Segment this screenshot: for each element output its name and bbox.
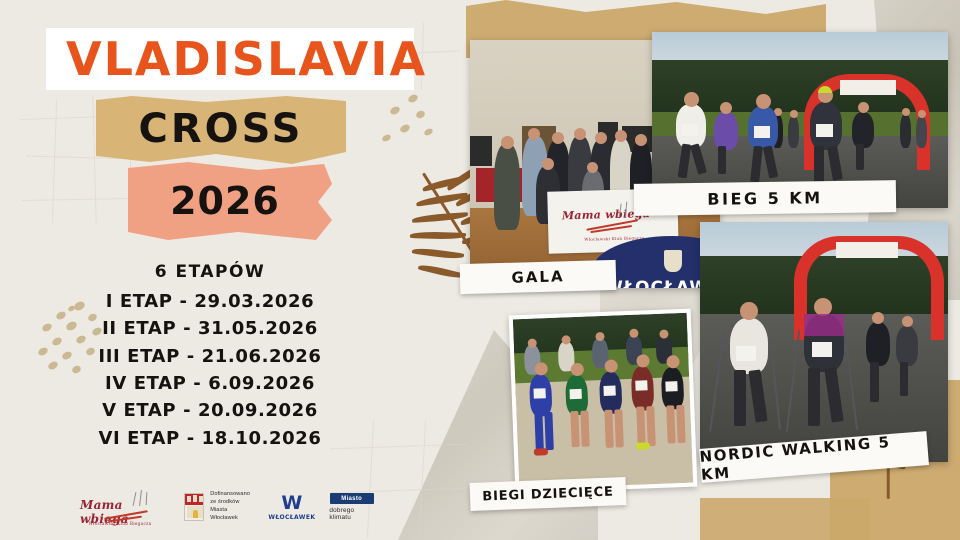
funding-line-3: Miasta Włocławek bbox=[210, 507, 252, 523]
city-w-icon: W bbox=[281, 494, 302, 513]
funding-line-1: Dofinansowano bbox=[210, 491, 252, 499]
stage-item-2: II ETAP - 31.05.2026 bbox=[0, 315, 420, 342]
sponsor-row: Mama wbiega Włocławski Klub Biegacza Dof… bbox=[74, 487, 374, 527]
photo-kids-race-image bbox=[513, 313, 693, 490]
sponsor-city-funding: Dofinansowano ze środków Miasta Włocławe… bbox=[184, 491, 252, 523]
city-mark-name: WŁOCŁAWEK bbox=[268, 514, 315, 521]
sponsor-city-mark: W WŁOCŁAWEK bbox=[268, 494, 315, 521]
stage-item-1: I ETAP - 29.03.2026 bbox=[0, 288, 420, 315]
club-logo-sub: Włocławski Klub Biegacza bbox=[76, 521, 164, 526]
caption-kids-race: BIEGI DZIECIĘCE bbox=[470, 477, 627, 511]
title-band-year: 2026 bbox=[128, 162, 336, 240]
photo-nordic-walking[interactable] bbox=[700, 222, 948, 462]
climate-badge: Miasto bbox=[330, 493, 374, 504]
caption-kids-race-text: BIEGI DZIECIĘCE bbox=[482, 484, 614, 504]
arch-logo bbox=[840, 80, 896, 95]
funding-line-2: ze środków bbox=[210, 499, 252, 507]
stage-item-6: VI ETAP - 18.10.2026 bbox=[0, 425, 420, 452]
arch-logo-nordic bbox=[836, 242, 898, 258]
caption-run-5km-text: BIEG 5 KM bbox=[707, 188, 823, 209]
poster-title: VLADISLAVIA bbox=[66, 36, 427, 82]
stage-item-3: III ETAP - 21.06.2026 bbox=[0, 343, 420, 370]
caption-gala-text: GALA bbox=[511, 267, 565, 286]
photo-nordic-walking-image bbox=[700, 222, 948, 462]
kraft-paper-bottom-strip bbox=[700, 498, 870, 540]
caption-run-5km: BIEG 5 KM bbox=[634, 180, 896, 216]
stage-item-4: IV ETAP - 6.09.2026 bbox=[0, 370, 420, 397]
speckle-decoration-top-right bbox=[378, 95, 438, 147]
climate-badge-label: Miasto bbox=[341, 496, 362, 502]
stages-list: 6 ETAPÓW I ETAP - 29.03.2026 II ETAP - 3… bbox=[0, 262, 420, 452]
poster-canvas: VLADISLAVIA CROSS 2026 6 ETAPÓW I ETAP -… bbox=[0, 0, 960, 540]
climate-badge-sub: dobrego klimatu bbox=[329, 507, 374, 521]
city-coat-of-arms-icon bbox=[184, 493, 204, 521]
funding-text: Dofinansowano ze środków Miasta Włocławe… bbox=[210, 491, 252, 523]
title-band-white: VLADISLAVIA bbox=[46, 28, 414, 90]
photo-kids-race[interactable] bbox=[509, 309, 698, 494]
poster-subtitle: CROSS bbox=[139, 109, 304, 149]
sponsor-club-logo: Mama wbiega Włocławski Klub Biegacza bbox=[74, 487, 166, 527]
stage-item-5: V ETAP - 20.09.2026 bbox=[0, 397, 420, 424]
title-band-cross: CROSS bbox=[96, 96, 346, 164]
sponsor-climate-badge: Miasto dobrego klimatu bbox=[329, 493, 374, 521]
poster-year: 2026 bbox=[170, 182, 280, 220]
caption-gala: GALA bbox=[460, 260, 617, 294]
stages-heading: 6 ETAPÓW bbox=[0, 262, 420, 282]
